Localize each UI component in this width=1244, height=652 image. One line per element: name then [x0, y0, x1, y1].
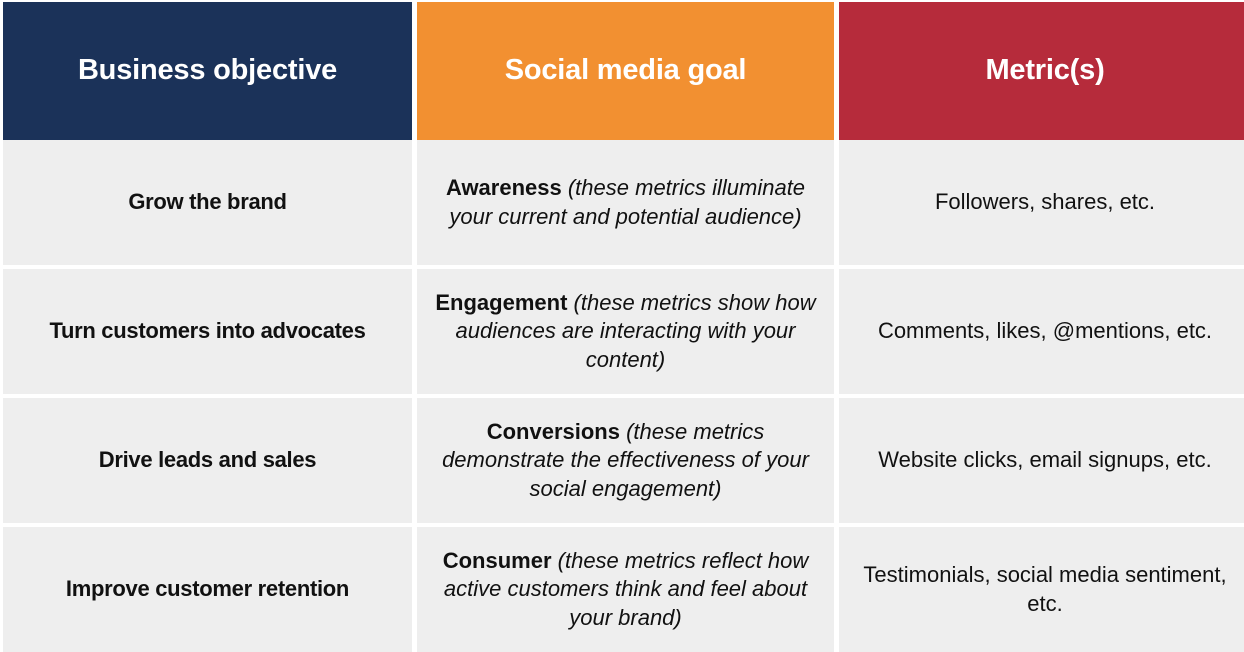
cell-social-media-goal: Awareness (these metrics illuminate your… — [417, 140, 834, 265]
column-header-metrics: Metric(s) — [839, 2, 1244, 140]
table-row: Turn customers into advocates Engagement… — [3, 269, 1244, 394]
cell-metrics: Comments, likes, @mentions, etc. — [839, 269, 1244, 394]
goal-term: Conversions — [487, 419, 620, 444]
table-body: Grow the brand Awareness (these metrics … — [0, 140, 1244, 652]
table-row: Drive leads and sales Conversions (these… — [3, 398, 1244, 523]
goal-term: Engagement — [435, 290, 567, 315]
table-row: Improve customer retention Consumer (the… — [3, 527, 1244, 652]
table-row: Grow the brand Awareness (these metrics … — [3, 140, 1244, 265]
cell-business-objective: Grow the brand — [3, 140, 412, 265]
goal-term: Consumer — [443, 548, 552, 573]
cell-metrics: Website clicks, email signups, etc. — [839, 398, 1244, 523]
cell-business-objective: Improve customer retention — [3, 527, 412, 652]
cell-business-objective: Turn customers into advocates — [3, 269, 412, 394]
cell-social-media-goal: Conversions (these metrics demonstrate t… — [417, 398, 834, 523]
column-header-social-media-goal: Social media goal — [417, 2, 834, 140]
cell-business-objective: Drive leads and sales — [3, 398, 412, 523]
cell-metrics: Followers, shares, etc. — [839, 140, 1244, 265]
cell-metrics: Testimonials, social media sentiment, et… — [839, 527, 1244, 652]
cell-social-media-goal: Consumer (these metrics reflect how acti… — [417, 527, 834, 652]
column-header-business-objective: Business objective — [3, 2, 412, 140]
cell-social-media-goal: Engagement (these metrics show how audie… — [417, 269, 834, 394]
social-media-goals-table: Business objective Social media goal Met… — [0, 0, 1244, 652]
table-header-row: Business objective Social media goal Met… — [0, 0, 1244, 140]
goal-term: Awareness — [446, 175, 562, 200]
